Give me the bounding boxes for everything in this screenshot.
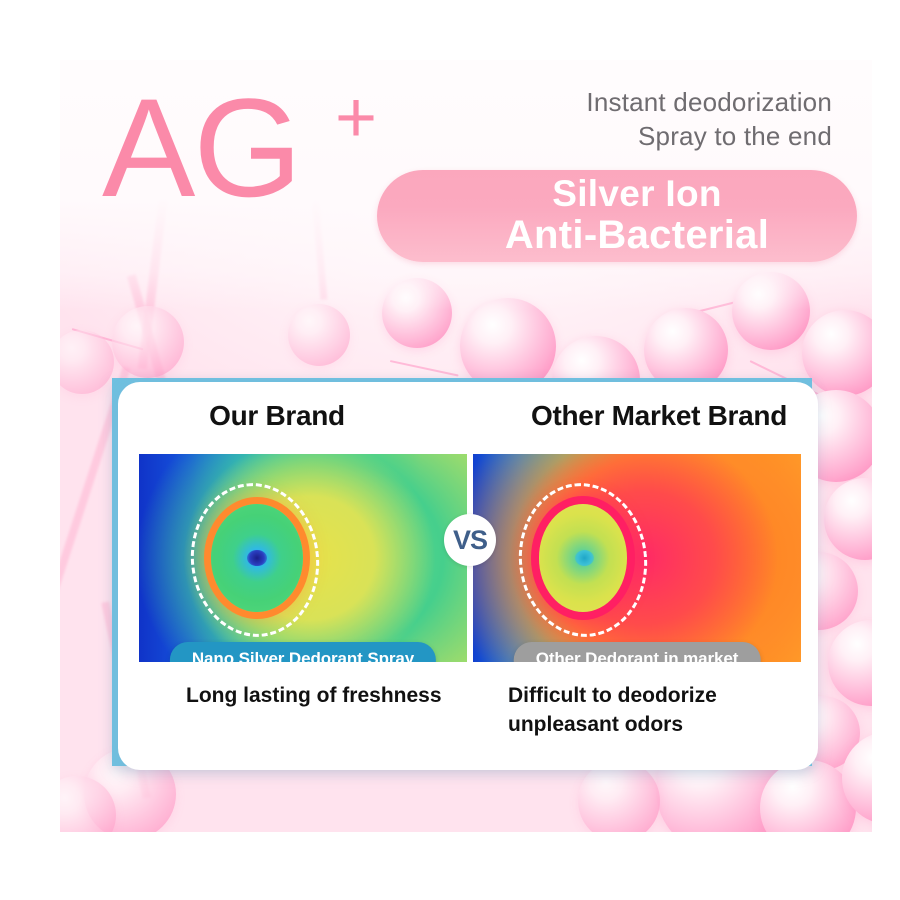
thermal-image-other-brand: Other Dedorant in market [473, 454, 801, 662]
molecule-sphere [824, 478, 872, 560]
caption-our-brand-line-1: Long lasting of freshness [186, 682, 472, 711]
tagline-line-2: Spray to the end [586, 119, 832, 153]
badge-other-deodorant: Other Dedorant in market [514, 642, 761, 662]
molecule-sphere [802, 310, 872, 396]
header-tagline: Instant deodorization Spray to the end [586, 85, 832, 154]
thermal-image-our-brand: Nano Silver Dedorant Spray [139, 454, 467, 662]
caption-other-brand-line-1: Difficult to deodorize [508, 682, 794, 711]
silver-ion-badge-pill [377, 170, 857, 262]
ag-logo-text: AG [102, 78, 300, 218]
molecule-sphere [112, 306, 184, 378]
ag-logo-plus-icon: + [335, 82, 377, 154]
caption-other-brand-line-2: unpleasant odors [508, 711, 794, 740]
molecule-sphere [828, 620, 872, 706]
caption-our-brand: Long lasting of freshness [142, 682, 472, 739]
heading-our-brand: Our Brand [118, 400, 478, 432]
heading-other-brand: Other Market Brand [478, 400, 818, 432]
thermal-comparison-row: Nano Silver Dedorant Spray Other Dedoran… [139, 454, 801, 662]
thermal-hotspot-left [247, 550, 267, 567]
brand-headings: Our Brand Other Market Brand [118, 400, 818, 432]
molecule-bond [390, 360, 459, 377]
vs-badge: VS [444, 514, 496, 566]
molecule-sphere [288, 304, 350, 366]
badge-nano-silver-spray: Nano Silver Dedorant Spray [170, 642, 436, 662]
molecule-sphere [578, 760, 660, 832]
poster-canvas: AG + Instant deodorization Spray to the … [0, 0, 900, 900]
header: AG + Instant deodorization Spray to the … [60, 60, 872, 285]
caption-other-brand: Difficult to deodorize unpleasant odors [472, 682, 794, 739]
comparison-card: Our Brand Other Market Brand Nano Silver… [118, 382, 818, 770]
tagline-line-1: Instant deodorization [586, 85, 832, 119]
